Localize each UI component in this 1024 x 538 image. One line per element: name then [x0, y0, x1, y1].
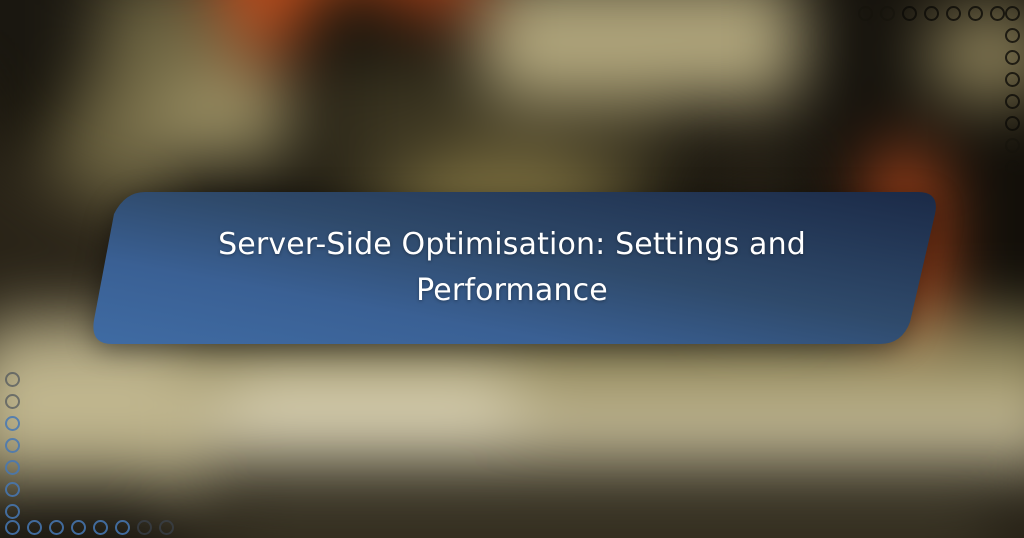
bg-shape-tan-band	[480, 0, 820, 100]
decor-dot	[5, 460, 20, 475]
decor-dot	[5, 416, 20, 431]
decor-dot	[5, 520, 20, 535]
decor-dot	[946, 6, 961, 21]
decor-dot	[137, 520, 152, 535]
decor-dot	[880, 6, 895, 21]
decor-dot	[5, 482, 20, 497]
bg-shape-desk-lower-strip	[220, 505, 1000, 538]
decor-dot	[93, 520, 108, 535]
decor-dot	[1005, 138, 1020, 153]
decor-dot	[968, 6, 983, 21]
decor-dot	[159, 520, 174, 535]
decor-dot	[5, 504, 20, 519]
bg-shape-topleft-dark	[0, 0, 100, 80]
decor-dot	[5, 438, 20, 453]
decor-dot	[924, 6, 939, 21]
decor-dot	[1005, 94, 1020, 109]
banner-shape	[93, 192, 936, 344]
decor-dot	[1005, 6, 1020, 21]
decor-dot	[49, 520, 64, 535]
decor-dot	[1005, 116, 1020, 131]
decor-dot	[115, 520, 130, 535]
decor-dot	[5, 394, 20, 409]
decor-dot	[1005, 72, 1020, 87]
decor-dot	[71, 520, 86, 535]
featured-image-canvas: Server-Side Optimisation: Settings and P…	[0, 0, 1024, 538]
title-banner	[90, 170, 940, 366]
decor-dot	[858, 6, 873, 21]
decor-dot	[1005, 50, 1020, 65]
decor-dot	[990, 6, 1005, 21]
decor-dot	[27, 520, 42, 535]
bg-shape-paper-highlight	[220, 375, 520, 445]
decor-dot	[902, 6, 917, 21]
decor-dot	[5, 372, 20, 387]
decor-dot	[1005, 28, 1020, 43]
decor-dot	[1005, 160, 1020, 175]
